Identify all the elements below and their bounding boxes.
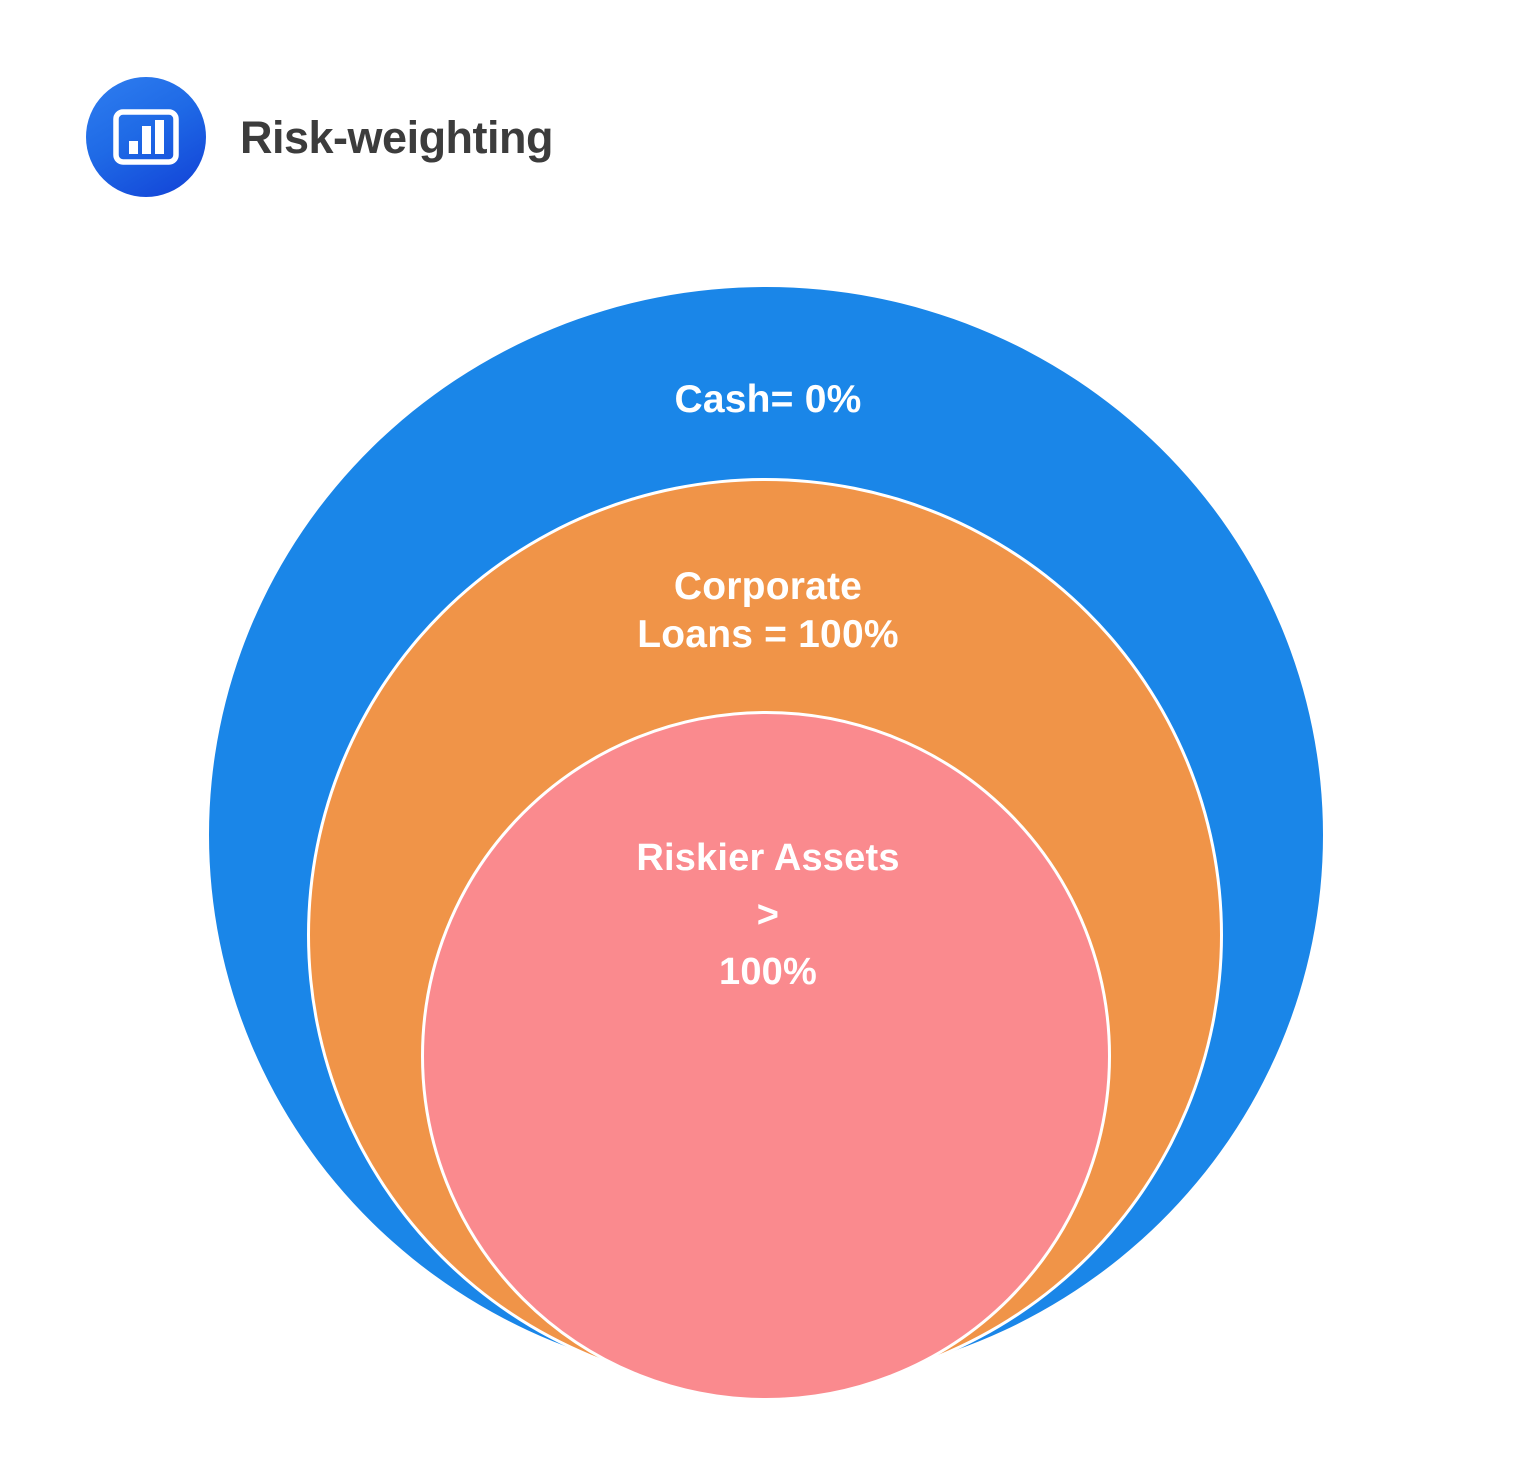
circle-riskier-assets (421, 711, 1111, 1401)
concentric-circles-diagram: Cash= 0% Corporate Loans = 100% Riskier … (0, 0, 1536, 1475)
